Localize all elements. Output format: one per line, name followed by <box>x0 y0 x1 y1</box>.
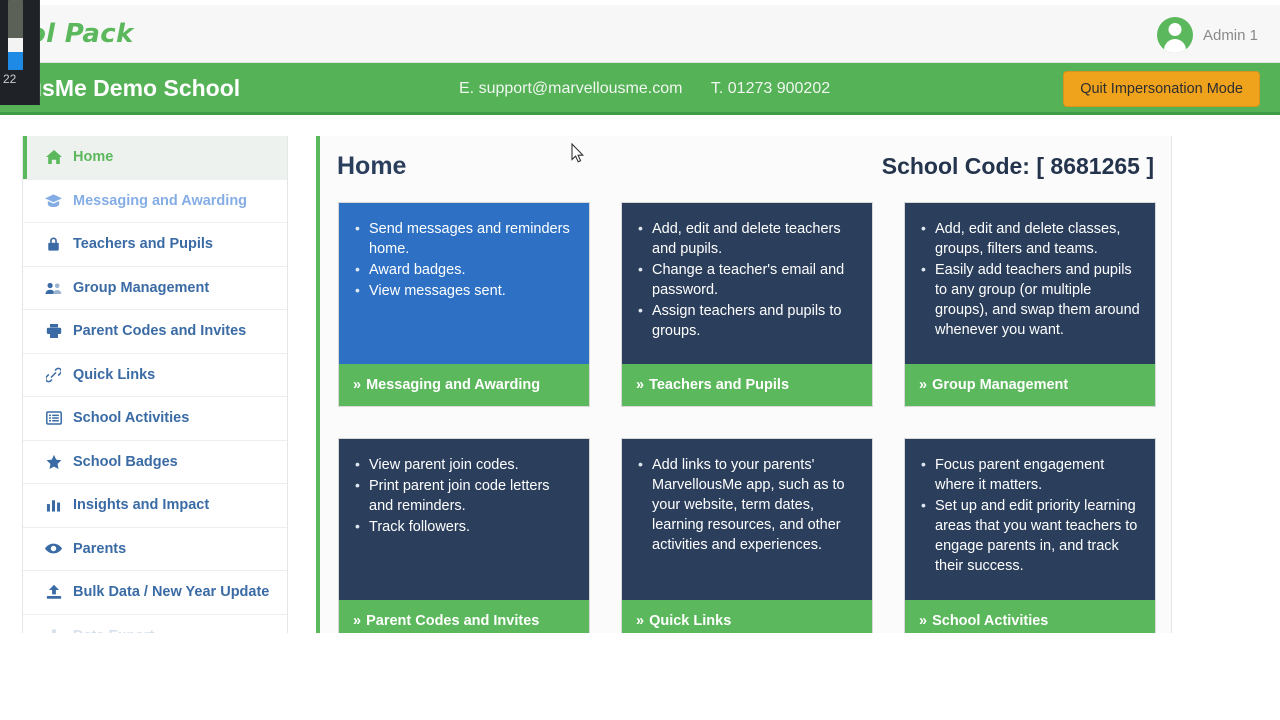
chevron-double-right-icon: » <box>353 377 361 393</box>
main-content-panel: Home School Code: [ 8681265 ] Send messa… <box>316 136 1172 633</box>
card-footer-link[interactable]: »School Activities <box>905 600 1155 633</box>
chevron-double-right-icon: » <box>353 613 361 629</box>
card-footer-label: School Activities <box>932 613 1048 629</box>
card-bullet: Focus parent engagement where it matters… <box>919 455 1141 495</box>
card-bullet: Track followers. <box>353 517 575 537</box>
card-footer-label: Group Management <box>932 377 1068 393</box>
card-bullet-list: Focus parent engagement where it matters… <box>919 455 1141 576</box>
sidebar-item-insights-and-impact[interactable]: Insights and Impact <box>23 484 287 528</box>
quit-impersonation-button[interactable]: Quit Impersonation Mode <box>1063 71 1260 107</box>
dashboard-card-grid: Send messages and reminders home. Award … <box>320 181 1171 633</box>
mouse-cursor <box>571 143 585 163</box>
download-icon <box>45 628 62 633</box>
sidebar-item-label: Home <box>73 149 113 165</box>
school-header-bar: usMe Demo School E. support@marvellousme… <box>0 63 1280 115</box>
card-bullet: Set up and edit priority learning areas … <box>919 496 1141 576</box>
sidebar-item-label: School Activities <box>73 410 189 426</box>
card-footer-link[interactable]: »Quick Links <box>622 600 872 633</box>
chevron-double-right-icon: » <box>636 377 644 393</box>
card-bullet: View parent join codes. <box>353 455 575 475</box>
card-bullet-list: Add, edit and delete teachers and pupils… <box>636 219 858 341</box>
brand-logo[interactable]: ol Pack <box>28 19 134 49</box>
school-code-label: School Code: [ 8681265 ] <box>882 153 1154 180</box>
dashboard-card-teachers-and-pupils[interactable]: Add, edit and delete teachers and pupils… <box>621 202 873 407</box>
sidebar-item-label: Data Export <box>73 628 154 633</box>
os-volume-overlay: 22 <box>0 0 40 105</box>
sidebar-item-home[interactable]: Home <box>23 136 287 180</box>
sidebar-nav: Home Messaging and Awarding Teachers and… <box>22 136 288 633</box>
top-bar: ol Pack Admin 1 <box>0 5 1280 63</box>
sidebar-item-data-export[interactable]: Data Export <box>23 615 287 634</box>
sidebar-item-school-badges[interactable]: School Badges <box>23 441 287 485</box>
volume-value-label: 22 <box>3 72 16 86</box>
sidebar-item-label: School Badges <box>73 454 178 470</box>
card-footer-link[interactable]: »Group Management <box>905 364 1155 406</box>
sidebar-item-school-activities[interactable]: School Activities <box>23 397 287 441</box>
card-bullet: Change a teacher's email and password. <box>636 260 858 300</box>
card-bullet: Easily add teachers and pupils to any gr… <box>919 260 1141 340</box>
card-footer-link[interactable]: »Teachers and Pupils <box>622 364 872 406</box>
card-bullet: Add links to your parents' MarvellousMe … <box>636 455 858 555</box>
card-footer-label: Parent Codes and Invites <box>366 613 539 629</box>
card-body: Add, edit and delete teachers and pupils… <box>622 203 872 364</box>
home-icon <box>45 149 62 166</box>
card-bullet-list: Add, edit and delete classes, groups, fi… <box>919 219 1141 340</box>
card-bullet-list: Add links to your parents' MarvellousMe … <box>636 455 858 555</box>
main-header: Home School Code: [ 8681265 ] <box>320 136 1171 181</box>
card-bullet: Add, edit and delete classes, groups, fi… <box>919 219 1141 259</box>
chevron-double-right-icon: » <box>636 613 644 629</box>
printer-icon <box>45 323 62 340</box>
chevron-double-right-icon: » <box>919 377 927 393</box>
sidebar-item-label: Insights and Impact <box>73 497 209 513</box>
card-body: Send messages and reminders home. Award … <box>339 203 589 364</box>
volume-slider[interactable] <box>8 0 23 70</box>
card-body: Focus parent engagement where it matters… <box>905 439 1155 600</box>
card-body: Add links to your parents' MarvellousMe … <box>622 439 872 600</box>
card-bullet-list: Send messages and reminders home. Award … <box>353 219 575 301</box>
sidebar-item-label: Group Management <box>73 280 209 296</box>
sidebar-item-label: Parent Codes and Invites <box>73 323 246 339</box>
dashboard-card-parent-codes-and-invites[interactable]: View parent join codes. Print parent joi… <box>338 438 590 633</box>
user-avatar-icon <box>1157 17 1193 53</box>
card-footer-link[interactable]: »Parent Codes and Invites <box>339 600 589 633</box>
dashboard-card-messaging-and-awarding[interactable]: Send messages and reminders home. Award … <box>338 202 590 407</box>
sidebar-item-group-management[interactable]: Group Management <box>23 267 287 311</box>
slider-knob[interactable] <box>8 38 23 52</box>
card-bullet: Award badges. <box>353 260 575 280</box>
sidebar-item-quick-links[interactable]: Quick Links <box>23 354 287 398</box>
card-footer-link[interactable]: »Messaging and Awarding <box>339 364 589 406</box>
eye-icon <box>45 540 62 557</box>
card-footer-label: Quick Links <box>649 613 731 629</box>
school-title: usMe Demo School <box>28 75 240 102</box>
card-body: Add, edit and delete classes, groups, fi… <box>905 203 1155 364</box>
card-bullet: Send messages and reminders home. <box>353 219 575 259</box>
link-icon <box>45 366 62 383</box>
list-alt-icon <box>45 410 62 427</box>
dashboard-card-quick-links[interactable]: Add links to your parents' MarvellousMe … <box>621 438 873 633</box>
dashboard-card-school-activities[interactable]: Focus parent engagement where it matters… <box>904 438 1156 633</box>
sidebar-item-messaging-and-awarding[interactable]: Messaging and Awarding <box>23 180 287 224</box>
upload-icon <box>45 584 62 601</box>
users-icon <box>45 279 62 296</box>
graduation-cap-icon <box>45 192 62 209</box>
card-bullet: Print parent join code letters and remin… <box>353 476 575 516</box>
sidebar-item-bulk-data-new-year-update[interactable]: Bulk Data / New Year Update <box>23 571 287 615</box>
star-icon <box>45 453 62 470</box>
card-bullet-list: View parent join codes. Print parent joi… <box>353 455 575 537</box>
card-body: View parent join codes. Print parent joi… <box>339 439 589 600</box>
sidebar-item-label: Teachers and Pupils <box>73 236 213 252</box>
card-bullet: Add, edit and delete teachers and pupils… <box>636 219 858 259</box>
page-title: Home <box>337 152 406 181</box>
contact-phone: T. 01273 900202 <box>711 80 830 97</box>
lock-icon <box>45 236 62 253</box>
sidebar-item-parents[interactable]: Parents <box>23 528 287 572</box>
user-name-label: Admin 1 <box>1203 27 1258 44</box>
sidebar-item-label: Bulk Data / New Year Update <box>73 584 269 600</box>
dashboard-card-group-management[interactable]: Add, edit and delete classes, groups, fi… <box>904 202 1156 407</box>
bar-chart-icon <box>45 497 62 514</box>
contact-info: E. support@marvellousme.com T. 01273 900… <box>459 80 830 98</box>
sidebar-item-label: Parents <box>73 541 126 557</box>
sidebar-item-teachers-and-pupils[interactable]: Teachers and Pupils <box>23 223 287 267</box>
body-wrapper: Home Messaging and Awarding Teachers and… <box>0 136 1280 633</box>
browser-page: ol Pack Admin 1 usMe Demo School E. supp… <box>0 0 1280 633</box>
card-bullet: Assign teachers and pupils to groups. <box>636 301 858 341</box>
card-bullet: View messages sent. <box>353 281 575 301</box>
sidebar-item-label: Messaging and Awarding <box>73 193 247 209</box>
screen: ol Pack Admin 1 usMe Demo School E. supp… <box>0 0 1280 720</box>
sidebar-item-label: Quick Links <box>73 367 155 383</box>
slider-fill <box>8 52 23 70</box>
contact-email: E. support@marvellousme.com <box>459 80 682 97</box>
user-menu[interactable]: Admin 1 <box>1157 17 1258 53</box>
sidebar-item-parent-codes-and-invites[interactable]: Parent Codes and Invites <box>23 310 287 354</box>
card-footer-label: Messaging and Awarding <box>366 377 540 393</box>
card-footer-label: Teachers and Pupils <box>649 377 789 393</box>
chevron-double-right-icon: » <box>919 613 927 629</box>
